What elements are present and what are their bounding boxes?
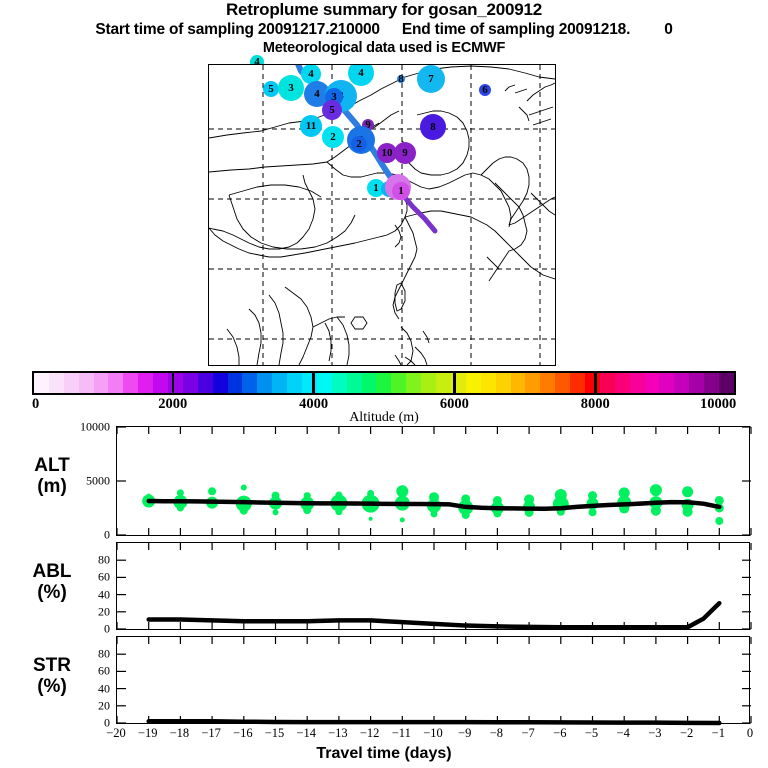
abl-plot-panel[interactable]: [116, 542, 750, 630]
x-tick-label: −15: [265, 726, 285, 741]
coastline-paths: [209, 66, 555, 365]
plume-marker-label: 2: [356, 139, 362, 150]
start-time-value: 20091217.210000: [258, 21, 380, 38]
colorbar-tick-label: 0: [32, 396, 39, 413]
colorbar-swatch: [138, 373, 153, 393]
x-tick-label: −12: [360, 726, 380, 741]
colorbar-swatch: [525, 373, 540, 393]
colorbar-swatch: [257, 373, 272, 393]
colorbar-swatch: [79, 373, 94, 393]
colorbar-tick-label: 8000: [581, 396, 610, 413]
colorbar-swatch: [481, 373, 496, 393]
plume-marker-label: 8: [430, 122, 436, 133]
x-tick-label: −7: [521, 726, 534, 741]
colorbar-division: [172, 371, 175, 395]
met-data-line: Meteorological data used is ECMWF: [0, 39, 768, 57]
plume-marker: 2: [322, 126, 344, 148]
plume-marker-label: 4: [314, 89, 320, 100]
str-plot-panel[interactable]: [116, 636, 750, 724]
map-graticule: [209, 65, 555, 365]
alt-plot-svg: [117, 427, 749, 535]
colorbar-swatch: [153, 373, 168, 393]
colorbar-swatch: [540, 373, 555, 393]
colorbar-swatch: [347, 373, 362, 393]
plume-marker-label: 10: [382, 148, 393, 159]
plume-marker-label: 1: [398, 186, 404, 197]
x-tick-label: −1: [712, 726, 725, 741]
plume-marker-label: 4: [358, 68, 364, 79]
colorbar-swatch: [585, 373, 600, 393]
y-tick-label: 40: [60, 681, 110, 696]
x-tick-label: −16: [233, 726, 253, 741]
plume-marker: 2: [351, 136, 367, 152]
x-tick-label: −10: [423, 726, 443, 741]
colorbar-swatch: [49, 373, 64, 393]
colorbar-swatch: [317, 373, 332, 393]
plume-marker: 8: [397, 75, 405, 83]
abl-plot-svg: [117, 543, 749, 629]
y-tick-label: 5000: [60, 474, 110, 489]
plume-marker: 8: [420, 114, 446, 140]
plume-marker-label: 2: [330, 132, 336, 143]
colorbar-swatch: [94, 373, 109, 393]
colorbar-swatch: [406, 373, 421, 393]
plume-marker-label: 1: [373, 183, 379, 194]
map-coastlines-svg: [209, 65, 555, 365]
colorbar-tick-label: 10000: [700, 396, 736, 413]
end-time-label: End time of sampling: [402, 21, 555, 38]
plume-marker-label: 8: [398, 74, 404, 85]
page-title: Retroplume summary for gosan_200912: [0, 0, 768, 20]
x-tick-label: −13: [328, 726, 348, 741]
x-axis-title: Travel time (days): [0, 745, 768, 763]
y-tick-label: 0: [60, 716, 110, 731]
colorbar-swatch: [496, 373, 511, 393]
colorbar-swatch: [645, 373, 660, 393]
x-tick-label: −14: [296, 726, 316, 741]
colorbar-swatch: [272, 373, 287, 393]
x-tick-label: −17: [201, 726, 221, 741]
plume-marker-label: 9: [402, 148, 408, 159]
colorbar-division: [594, 371, 597, 395]
colorbar-division: [312, 371, 315, 395]
plume-marker: 7: [417, 65, 445, 93]
colorbar-axis-title: Altitude (m): [0, 410, 768, 426]
plume-marker: 3: [278, 75, 304, 101]
plume-marker-label: 6: [482, 85, 488, 96]
altitude-colorbar[interactable]: [32, 371, 736, 395]
colorbar-swatch: [332, 373, 347, 393]
colorbar-swatch: [123, 373, 138, 393]
x-tick-label: −2: [680, 726, 693, 741]
colorbar-swatch: [511, 373, 526, 393]
colorbar-tick-label: 6000: [440, 396, 469, 413]
y-tick-label: 80: [60, 553, 110, 568]
colorbar-swatch: [555, 373, 570, 393]
x-tick-label: −19: [138, 726, 158, 741]
sampling-time-line: Start time of sampling 20091217.210000En…: [0, 20, 768, 39]
colorbar-swatch: [228, 373, 243, 393]
plume-marker: 9: [394, 142, 416, 164]
colorbar-swatch: [376, 373, 391, 393]
plume-marker: 11: [300, 115, 322, 137]
end-time-value-2: 0: [664, 21, 672, 38]
colorbar-swatch: [466, 373, 481, 393]
colorbar-swatch: [242, 373, 257, 393]
plume-marker-label: 3: [288, 83, 294, 94]
colorbar-swatch: [64, 373, 79, 393]
y-tick-label: 60: [60, 570, 110, 585]
x-tick-label: −4: [617, 726, 630, 741]
y-tick-label: 20: [60, 698, 110, 713]
x-tick-label: −9: [458, 726, 471, 741]
colorbar-swatch: [704, 373, 719, 393]
plume-marker: 5: [322, 100, 342, 120]
start-time-label: Start time of sampling: [95, 21, 253, 38]
plume-marker: 5: [263, 81, 279, 97]
x-tick-label: −8: [490, 726, 503, 741]
colorbar-swatch: [34, 373, 49, 393]
colorbar-swatch: [213, 373, 228, 393]
x-tick-label: −18: [170, 726, 190, 741]
end-time-value: 20091218.: [559, 21, 630, 38]
str-plot-svg: [117, 637, 749, 723]
colorbar-swatch: [630, 373, 645, 393]
colorbar-swatch: [391, 373, 406, 393]
plume-marker-label: 4: [308, 69, 314, 80]
colorbar-swatch: [108, 373, 123, 393]
x-tick-label: −6: [553, 726, 566, 741]
colorbar-swatch: [168, 373, 183, 393]
colorbar-swatch: [183, 373, 198, 393]
x-tick-label: −20: [106, 726, 126, 741]
colorbar-tick-label: 4000: [299, 396, 328, 413]
colorbar-swatch: [362, 373, 377, 393]
x-tick-label: 0: [747, 726, 753, 741]
colorbar-swatch: [198, 373, 213, 393]
colorbar-tick-label: 2000: [158, 396, 187, 413]
y-tick-label: 10000: [60, 420, 110, 435]
colorbar-swatch: [436, 373, 451, 393]
colorbar-swatch: [615, 373, 630, 393]
header-block: Retroplume summary for gosan_200912 Star…: [0, 0, 768, 57]
y-tick-label: 0: [60, 528, 110, 543]
y-tick-label: 0: [60, 622, 110, 637]
retroplume-map[interactable]: 4478534633511982221091111: [208, 64, 556, 366]
plume-marker: 6: [479, 84, 491, 96]
colorbar-swatch: [421, 373, 436, 393]
colorbar-swatch: [600, 373, 615, 393]
alt-plot-panel[interactable]: [116, 426, 750, 536]
colorbar-swatch: [570, 373, 585, 393]
colorbar-swatch: [689, 373, 704, 393]
y-tick-label: 80: [60, 647, 110, 662]
plume-marker-label: 5: [329, 105, 335, 116]
y-tick-label: 20: [60, 604, 110, 619]
colorbar-swatch: [287, 373, 302, 393]
y-tick-label: 60: [60, 664, 110, 679]
colorbar-swatch: [674, 373, 689, 393]
colorbar-division: [453, 371, 456, 395]
y-tick-label: 40: [60, 587, 110, 602]
colorbar-swatch: [719, 373, 734, 393]
x-tick-label: −5: [585, 726, 598, 741]
colorbar-swatch: [659, 373, 674, 393]
x-tick-label: −11: [392, 726, 411, 741]
plume-marker: 1: [392, 182, 410, 200]
plume-marker-label: 5: [268, 84, 274, 95]
plume-marker-label: 11: [306, 121, 316, 132]
plume-marker-label: 7: [428, 74, 434, 85]
x-tick-label: −3: [648, 726, 661, 741]
